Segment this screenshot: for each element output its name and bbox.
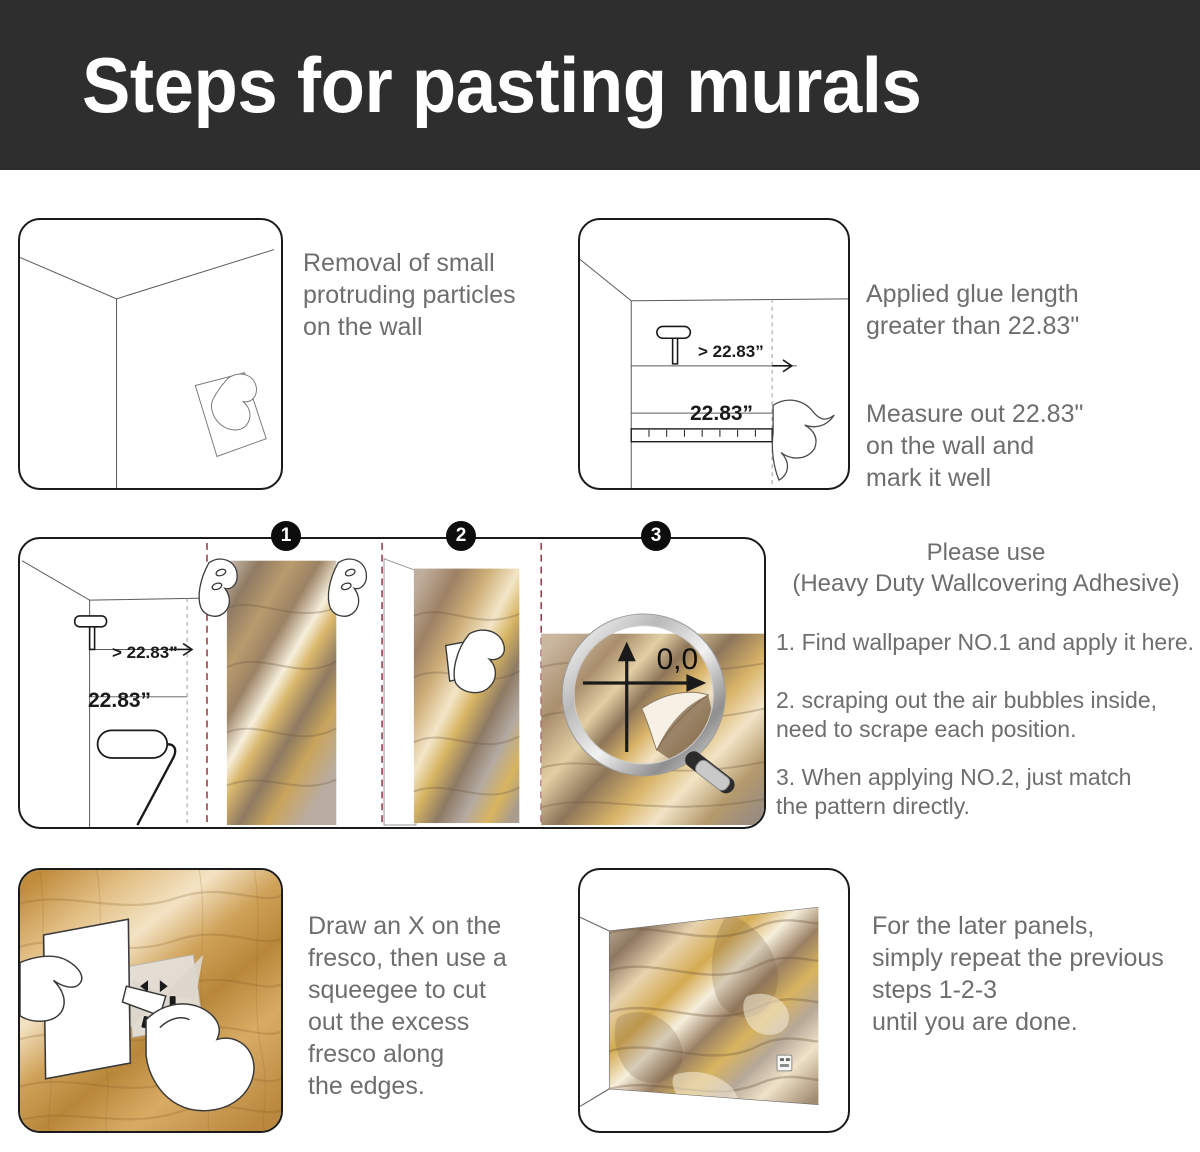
dim-exact-label: 22.83” — [690, 402, 753, 426]
step-badge-1: 1 — [271, 521, 301, 551]
finished-wall-illustration — [580, 870, 848, 1131]
caption-remove-particles: Removal of small protruding particles on… — [303, 247, 563, 343]
page-title: Steps for pasting murals — [82, 40, 921, 131]
caption-step-3: 3. When applying NO.2, just match the pa… — [776, 763, 1176, 822]
caption-step-1: 1. Find wallpaper NO.1 and apply it here… — [776, 628, 1196, 657]
caption-adhesive-note: Please use (Heavy Duty Wallcovering Adhe… — [776, 538, 1196, 599]
apply-dim-greater-label: > 22.83” — [112, 643, 178, 663]
wall-corner-sanding-illustration — [20, 220, 281, 488]
wall-outlet — [777, 1055, 792, 1071]
caption-glue-length: Applied glue length greater than 22.83" — [866, 278, 1166, 342]
caption-cut-outlet: Draw an X on the fresco, then use a sque… — [308, 910, 568, 1102]
panel-apply-glue-measure: > 22.83” 22.83” — [578, 218, 850, 490]
panel-finished-wall — [578, 868, 850, 1133]
panel-remove-particles — [18, 218, 283, 490]
dim-greater-label: > 22.83” — [698, 342, 764, 362]
apply-dim-exact-label: 22.83” — [88, 689, 151, 713]
page-header: Steps for pasting murals — [0, 0, 1200, 170]
origin-coordinate-text: 0,0 — [657, 643, 698, 676]
caption-step-2: 2. scraping out the air bubbles inside, … — [776, 686, 1176, 745]
step-badge-3: 3 — [641, 521, 671, 551]
apply-sequence-illustration: 0,0 — [20, 539, 764, 827]
cut-x-illustration — [20, 870, 281, 1131]
caption-measure-mark: Measure out 22.83" on the wall and mark … — [866, 398, 1176, 494]
panel-cut-outlet — [18, 868, 283, 1133]
panel-apply-sequence: 0,0 > 22.83” 22.83” — [18, 537, 766, 829]
caption-repeat-steps: For the later panels, simply repeat the … — [872, 910, 1200, 1038]
step-badge-2: 2 — [446, 521, 476, 551]
